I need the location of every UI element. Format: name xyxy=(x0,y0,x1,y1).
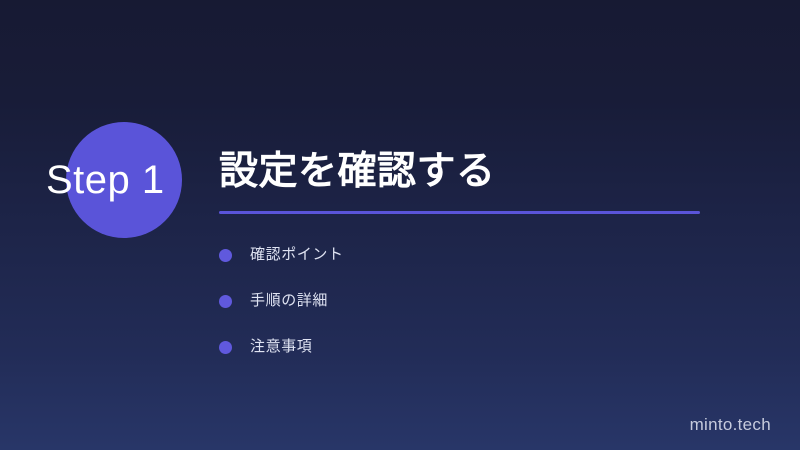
title-divider xyxy=(219,211,700,214)
bullet-dot-icon xyxy=(219,295,232,308)
bullet-list: 確認ポイント 手順の詳細 注意事項 xyxy=(219,232,679,370)
watermark-branding: minto.tech xyxy=(690,415,771,435)
list-item: 確認ポイント xyxy=(219,232,679,278)
list-item-label: 注意事項 xyxy=(250,337,312,357)
presentation-slide: Step 1 設定を確認する 確認ポイント 手順の詳細 注意事項 minto.t… xyxy=(0,0,800,450)
slide-title: 設定を確認する xyxy=(219,148,496,196)
list-item-label: 確認ポイント xyxy=(250,245,344,265)
list-item: 注意事項 xyxy=(219,324,679,370)
step-badge: Step 1 xyxy=(0,120,200,240)
bullet-dot-icon xyxy=(219,249,232,262)
list-item-label: 手順の詳細 xyxy=(250,291,328,311)
step-label: Step 1 xyxy=(46,152,206,208)
bullet-dot-icon xyxy=(219,341,232,354)
list-item: 手順の詳細 xyxy=(219,278,679,324)
